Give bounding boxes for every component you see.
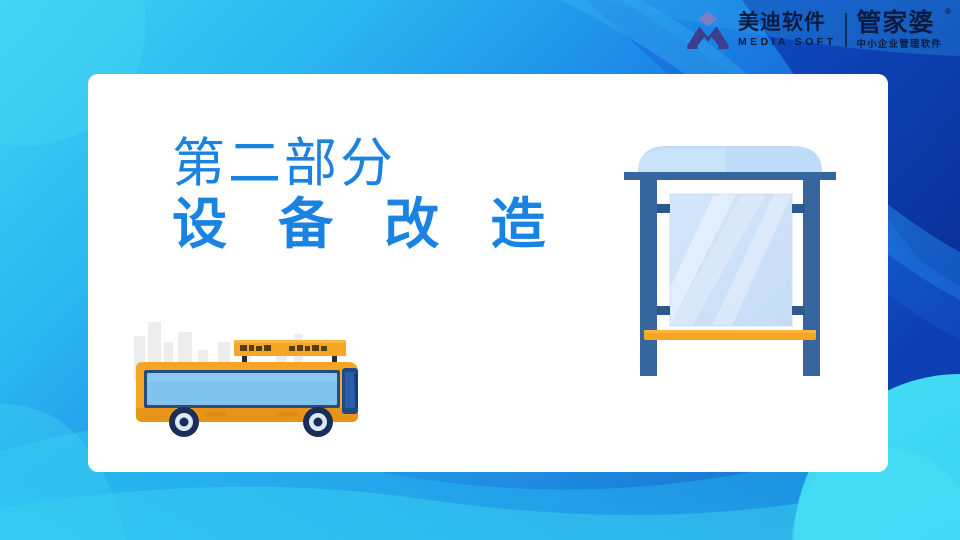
brand-name-en: MEDIA SOFT	[738, 37, 836, 48]
product-name-block: 管家婆 ® 中小企业管理软件	[856, 10, 942, 50]
bus-wheel-front	[169, 407, 199, 437]
slide-canvas: 美迪软件 MEDIA SOFT 管家婆 ® 中小企业管理软件 第二部分 设 备 …	[0, 0, 960, 540]
product-tagline: 中小企业管理软件	[856, 40, 942, 50]
page-title: 第二部分 设 备 改 造	[172, 136, 561, 256]
city-bus-illustration	[126, 312, 378, 444]
product-name-cn: 管家婆	[856, 10, 934, 35]
bus-door	[342, 368, 358, 414]
media-soft-m-mark-icon	[687, 11, 729, 49]
bus-stop-shelter-illustration	[616, 136, 844, 380]
bus-wheel-rear	[303, 407, 333, 437]
section-title: 设 备 改 造	[172, 194, 561, 256]
registered-mark: ®	[945, 8, 951, 16]
brand-logo: 美迪软件 MEDIA SOFT 管家婆 ® 中小企业管理软件	[687, 10, 942, 50]
logo-divider	[845, 13, 847, 47]
brand-name-cn: 美迪软件	[738, 12, 826, 33]
brand-name-block: 美迪软件 MEDIA SOFT	[738, 12, 836, 48]
section-number: 第二部分	[172, 136, 561, 192]
content-card: 第二部分 设 备 改 造	[88, 74, 888, 472]
